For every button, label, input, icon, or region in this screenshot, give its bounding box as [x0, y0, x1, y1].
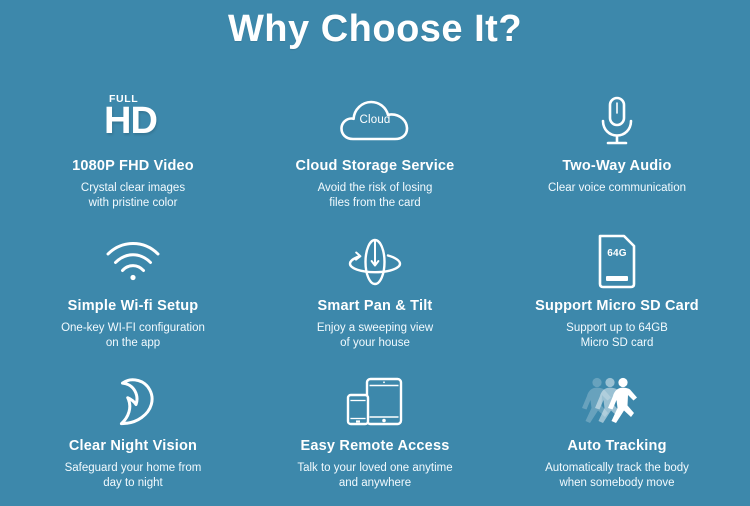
- pan-tilt-icon: [254, 230, 496, 294]
- feature-description-line: of your house: [317, 336, 433, 351]
- wifi-icon: [12, 230, 254, 294]
- feature-item-clear-night-vision: Clear Night Vision Safeguard your home f…: [12, 368, 254, 506]
- feature-item-support-micro-sd-card: 64G Support Micro SD Card Support up to …: [496, 228, 738, 368]
- feature-item-simple-wifi-setup: Simple Wi-fi Setup One-key WI-FI configu…: [12, 228, 254, 368]
- feature-description: Enjoy a sweeping view of your house: [317, 321, 433, 351]
- feature-description-line: when somebody move: [545, 476, 689, 491]
- feature-item-smart-pan-and-tilt: Smart Pan & Tilt Enjoy a sweeping view o…: [254, 228, 496, 368]
- feature-title: Clear Night Vision: [69, 438, 197, 454]
- feature-description-line: Safeguard your home from: [65, 461, 202, 476]
- feature-title: 1080P FHD Video: [72, 158, 194, 174]
- feature-description: Crystal clear images with pristine color: [81, 181, 185, 211]
- feature-description-line: and anywhere: [297, 476, 452, 491]
- feature-description: Automatically track the body when somebo…: [545, 461, 689, 491]
- feature-title: Two-Way Audio: [562, 158, 671, 174]
- feature-description-line: Support up to 64GB: [566, 321, 668, 336]
- feature-item-two-way-audio: Two-Way Audio Clear voice communication: [496, 88, 738, 228]
- feature-description: One-key WI-FI configuration on the app: [61, 321, 205, 351]
- feature-description-line: Micro SD card: [566, 336, 668, 351]
- feature-description-line: Crystal clear images: [81, 181, 185, 196]
- feature-description-line: on the app: [61, 336, 205, 351]
- feature-title: Easy Remote Access: [301, 438, 450, 454]
- feature-description: Support up to 64GB Micro SD card: [566, 321, 668, 351]
- feature-description-line: Automatically track the body: [545, 461, 689, 476]
- sd-card-icon-label: 64G: [591, 248, 643, 259]
- feature-description: Avoid the risk of losing files from the …: [318, 181, 433, 211]
- feature-title: Cloud Storage Service: [296, 158, 455, 174]
- feature-description-line: Clear voice communication: [548, 181, 686, 196]
- feature-item-cloud-storage-service: Cloud Cloud Storage Service Avoid the ri…: [254, 88, 496, 228]
- devices-icon: [254, 370, 496, 434]
- feature-description: Talk to your loved one anytime and anywh…: [297, 461, 452, 491]
- feature-description-line: Talk to your loved one anytime: [297, 461, 452, 476]
- feature-title: Simple Wi-fi Setup: [68, 298, 199, 314]
- sd-card-icon: 64G: [496, 230, 738, 294]
- cloud-icon: Cloud: [254, 90, 496, 154]
- page-title: Why Choose It?: [0, 8, 750, 51]
- feature-description-line: Avoid the risk of losing: [318, 181, 433, 196]
- feature-grid: FULL HD 1080P FHD Video Crystal clear im…: [12, 88, 738, 506]
- feature-description: Clear voice communication: [548, 181, 686, 196]
- feature-description: Safeguard your home from day to night: [65, 461, 202, 491]
- feature-title: Smart Pan & Tilt: [318, 298, 433, 314]
- cloud-icon-label: Cloud: [339, 114, 411, 126]
- full-hd-icon: FULL HD: [12, 90, 254, 154]
- running-person-tracking-icon: [496, 370, 738, 434]
- feature-title: Support Micro SD Card: [535, 298, 699, 314]
- feature-description-line: One-key WI-FI configuration: [61, 321, 205, 336]
- feature-title: Auto Tracking: [567, 438, 666, 454]
- feature-item-easy-remote-access: Easy Remote Access Talk to your loved on…: [254, 368, 496, 506]
- feature-description-line: with pristine color: [81, 196, 185, 211]
- feature-item-auto-tracking: Auto Tracking Automatically track the bo…: [496, 368, 738, 506]
- promo-banner: Why Choose It? FULL HD 1080P FHD Video C…: [0, 0, 750, 506]
- feature-description-line: Enjoy a sweeping view: [317, 321, 433, 336]
- microphone-icon: [496, 90, 738, 154]
- full-hd-icon-big-label: HD: [104, 101, 157, 141]
- feature-description-line: files from the card: [318, 196, 433, 211]
- feature-item-1080p-fhd-video: FULL HD 1080P FHD Video Crystal clear im…: [12, 88, 254, 228]
- feature-description-line: day to night: [65, 476, 202, 491]
- moon-icon: [12, 370, 254, 434]
